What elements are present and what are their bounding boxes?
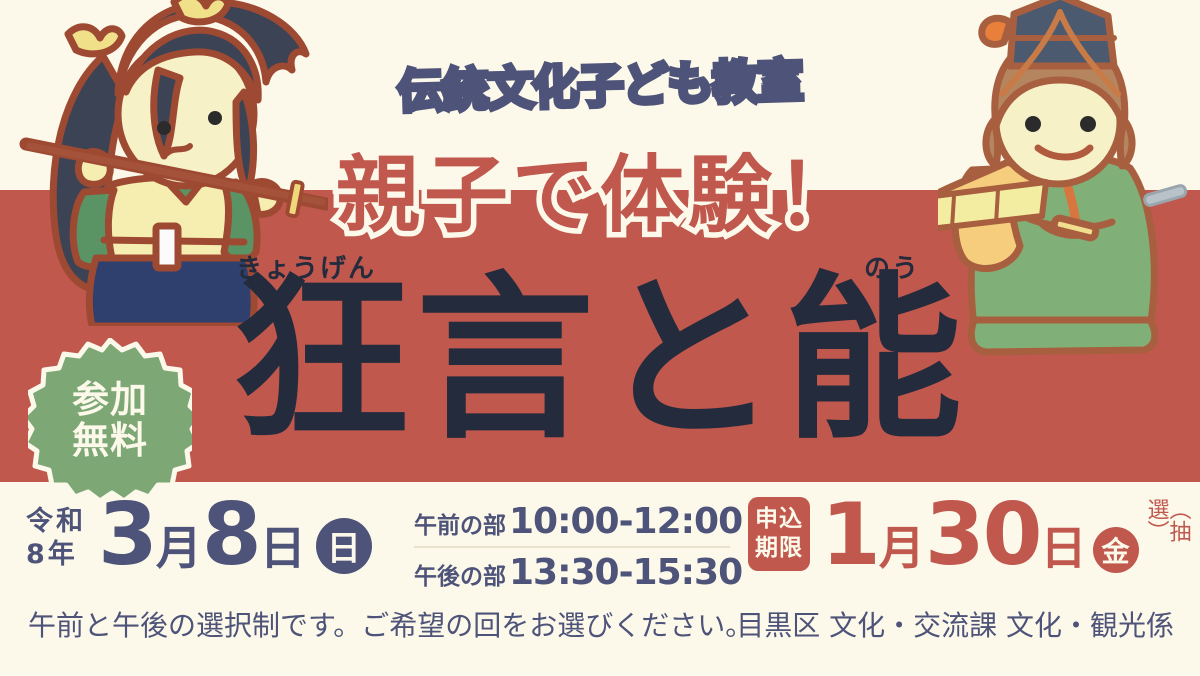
deadline-tag: 申込 期限 [748, 497, 810, 571]
event-month-number: 3 [98, 497, 156, 574]
event-month-unit: 月 [156, 528, 202, 569]
free-participation-badge: 参加 無料 [28, 338, 192, 502]
deadline-day-number: 30 [925, 497, 1041, 574]
free-badge-line1: 参加 [72, 379, 148, 420]
era-line1: 令和 [26, 506, 86, 539]
event-info-strip: 令和 8年 3 月 8 日 日 午前の部 10:00-12:00 午後の部 13… [0, 495, 1200, 595]
deadline-tag-line2: 期限 [755, 534, 803, 563]
session-times-block: 午前の部 10:00-12:00 午後の部 13:30-15:30 [414, 501, 730, 594]
subtitle-heading: 親子で体験！ [0, 128, 1200, 249]
furigana-noh: のう [864, 248, 920, 285]
poster-footer: 午前と午後の選択制です。ご希望の回をお選びください。 目黒区 文化・交流課 文化… [0, 604, 1200, 654]
deadline-tag-line1: 申込 [755, 505, 803, 534]
furigana-row: きょうげん のう [220, 248, 980, 282]
deadline-month-number: 1 [821, 497, 879, 574]
lottery-note: （抽選） [1145, 498, 1189, 574]
event-day-unit: 日 [260, 528, 306, 569]
deadline-day-unit: 日 [1041, 528, 1087, 569]
session-time-afternoon: 13:30-15:30 [509, 552, 742, 593]
application-deadline-block: 申込 期限 1 月 30 日 金 （抽選） [748, 497, 1189, 576]
deadline-date: 1 月 30 日 金 [821, 497, 1139, 576]
free-badge-text: 参加 無料 [28, 338, 192, 502]
deadline-month-unit: 月 [879, 528, 925, 569]
event-poster: 伝統文化子ども教室 親子で体験！ きょうげん のう 狂言と能 参加 無料 令和 … [0, 0, 1200, 676]
footer-organizer: 目黒区 文化・交流課 文化・観光係 [736, 604, 1174, 644]
session-label-afternoon: 午後の部 [414, 557, 506, 591]
session-label-morning: 午前の部 [414, 506, 506, 540]
deadline-weekday-badge: 金 [1093, 527, 1139, 573]
era-line2: 8年 [26, 539, 86, 572]
session-row-morning: 午前の部 10:00-12:00 [414, 501, 730, 543]
date-main: 3 月 8 日 日 [98, 497, 372, 578]
session-divider [414, 546, 730, 548]
footer-note: 午前と午後の選択制です。ご希望の回をお選びください。 [28, 604, 753, 644]
event-day-number: 8 [202, 497, 260, 574]
era-label: 令和 8年 [26, 506, 86, 578]
session-row-afternoon: 午後の部 13:30-15:30 [414, 552, 730, 594]
session-time-morning: 10:00-12:00 [509, 501, 742, 542]
event-date-block: 令和 8年 3 月 8 日 日 [26, 497, 372, 578]
event-weekday-badge: 日 [316, 518, 372, 574]
free-badge-line2: 無料 [72, 420, 148, 461]
furigana-kyogen: きょうげん [236, 248, 376, 285]
